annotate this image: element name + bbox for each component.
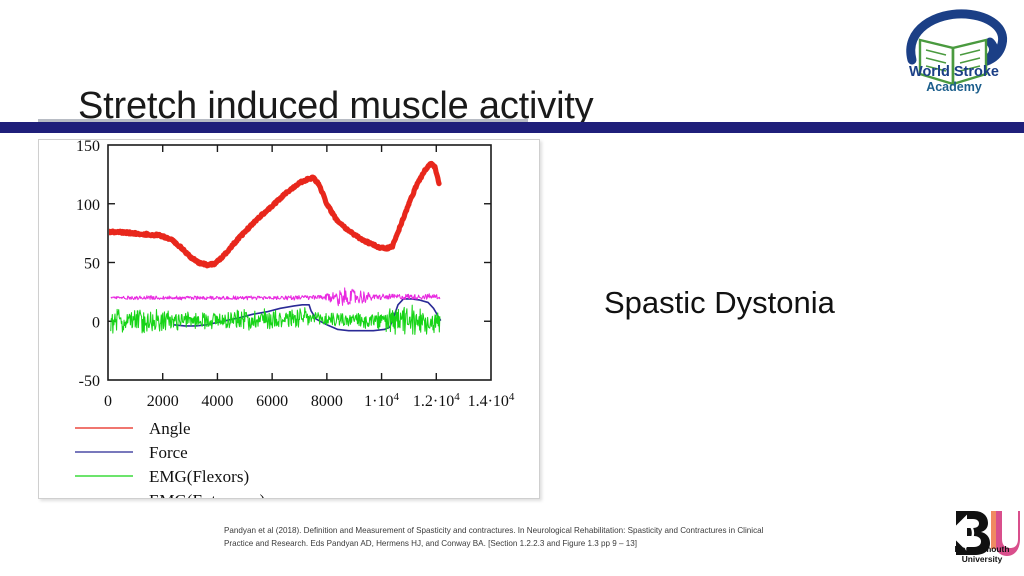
svg-text:150: 150 (76, 140, 100, 155)
svg-text:Angle: Angle (149, 419, 191, 438)
svg-text:0: 0 (92, 314, 100, 331)
svg-text:6000: 6000 (256, 393, 288, 410)
svg-text:Force: Force (149, 443, 188, 462)
svg-text:4000: 4000 (201, 393, 233, 410)
wsa-line-1: World Stroke (890, 64, 1018, 80)
svg-text:1.2·104: 1.2·104 (413, 391, 460, 410)
world-stroke-academy-wordmark: World Stroke Academy (890, 64, 1018, 94)
bu-line-2: University (962, 554, 1003, 564)
bournemouth-university-wordmark: Bournemouth University (940, 545, 1024, 564)
chart-figure-frame: -50050100150020004000600080001·1041.2·10… (38, 139, 540, 499)
svg-text:50: 50 (84, 256, 100, 273)
bu-line-1: Bournemouth (955, 544, 1010, 554)
wsa-line-2: Academy (890, 80, 1018, 94)
svg-text:1.4·104: 1.4·104 (468, 391, 515, 410)
svg-text:1·104: 1·104 (364, 391, 399, 410)
svg-text:EMG(Flexors): EMG(Flexors) (149, 467, 249, 486)
svg-text:0: 0 (104, 393, 112, 410)
muscle-activity-chart: -50050100150020004000600080001·1041.2·10… (39, 140, 539, 498)
spastic-dystonia-label: Spastic Dystonia (604, 285, 835, 321)
accent-band (0, 122, 1024, 133)
slide-canvas: Stretch induced muscle activity -5005010… (0, 0, 1024, 576)
svg-text:2000: 2000 (147, 393, 179, 410)
svg-text:-50: -50 (79, 373, 100, 390)
reference-citation: Pandyan et al (2018). Definition and Mea… (224, 524, 790, 550)
svg-text:8000: 8000 (311, 393, 343, 410)
svg-text:EMG(Extensors): EMG(Extensors) (149, 491, 265, 498)
svg-text:100: 100 (76, 197, 100, 214)
